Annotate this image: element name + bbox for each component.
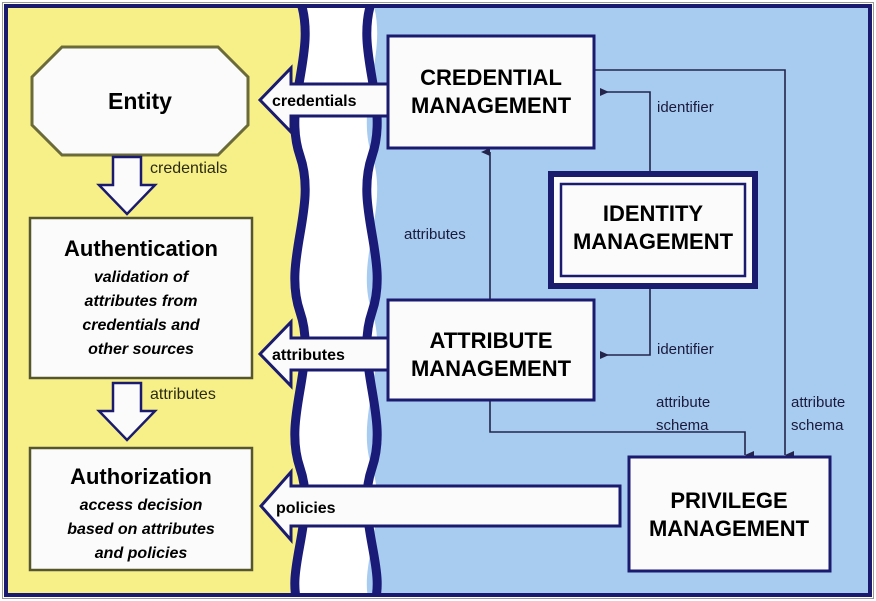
label-identifier-credential: identifier <box>657 99 714 116</box>
label-attribute-schema-left-line1: attribute <box>656 394 710 411</box>
authentication-line-2: attributes from <box>85 293 198 310</box>
label-credentials-down: credentials <box>150 160 227 177</box>
privilege-management-line1: PRIVILEGE <box>670 488 787 513</box>
policies-arrow-label: policies <box>276 500 336 517</box>
authentication-node[interactable]: Authentication validation of attributes … <box>30 218 252 378</box>
privilege-management-node[interactable]: PRIVILEGE MANAGEMENT <box>629 457 830 571</box>
attribute-management-line1: ATTRIBUTE <box>429 328 552 353</box>
diagram-canvas: attributes identifier identifier attribu… <box>0 0 876 601</box>
authentication-line-3: credentials and <box>82 317 201 334</box>
identity-management-line1: IDENTITY <box>603 201 704 226</box>
identity-management-line2: MANAGEMENT <box>573 229 734 254</box>
diagram-interior: attributes identifier identifier attribu… <box>8 0 868 601</box>
authorization-line-1: access decision <box>80 497 203 514</box>
credentials-arrow-label: credentials <box>272 93 357 110</box>
authorization-line-2: based on attributes <box>67 521 215 538</box>
label-attribute-schema-right-line1: attribute <box>791 394 845 411</box>
authentication-line-4: other sources <box>88 341 194 358</box>
authorization-node[interactable]: Authorization access decision based on a… <box>30 448 252 570</box>
attributes-arrow-label: attributes <box>272 347 345 364</box>
label-attributes-up: attributes <box>404 226 466 243</box>
authentication-title: Authentication <box>64 236 218 261</box>
authorization-title: Authorization <box>70 464 212 489</box>
credential-management-line2: MANAGEMENT <box>411 93 572 118</box>
label-identifier-attribute: identifier <box>657 341 714 358</box>
credential-management-node[interactable]: CREDENTIAL MANAGEMENT <box>388 36 594 148</box>
authentication-line-1: validation of <box>94 269 190 286</box>
authorization-line-3: and policies <box>95 545 188 562</box>
identity-management-node[interactable]: IDENTITY MANAGEMENT <box>551 174 755 286</box>
identity-management-diagram: attributes identifier identifier attribu… <box>0 0 876 601</box>
entity-node[interactable]: Entity <box>32 47 248 155</box>
entity-label: Entity <box>108 88 172 114</box>
label-attribute-schema-right-line2: schema <box>791 417 844 434</box>
privilege-management-line2: MANAGEMENT <box>649 516 810 541</box>
attribute-management-node[interactable]: ATTRIBUTE MANAGEMENT <box>388 300 594 400</box>
attribute-management-line2: MANAGEMENT <box>411 356 572 381</box>
label-attributes-down: attributes <box>150 386 216 403</box>
label-attribute-schema-left-line2: schema <box>656 417 709 434</box>
credential-management-line1: CREDENTIAL <box>420 65 562 90</box>
